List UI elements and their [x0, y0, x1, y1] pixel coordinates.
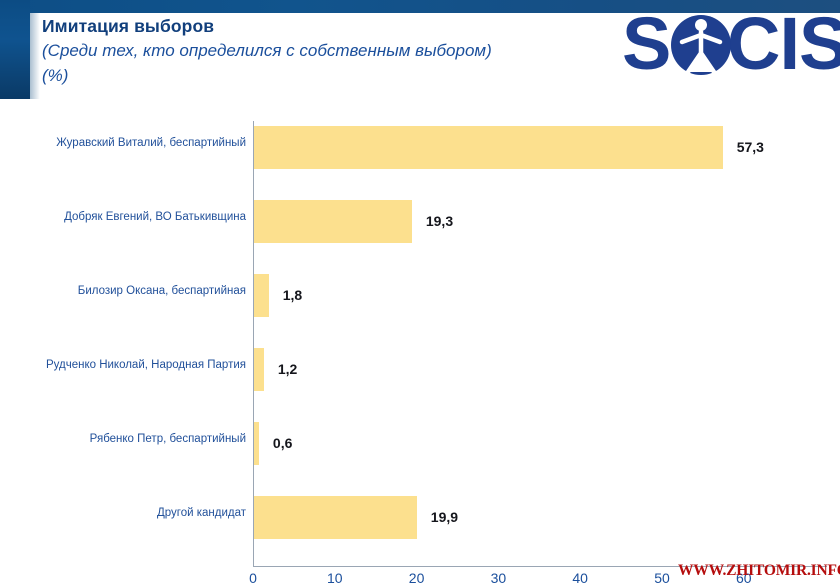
bar-value-label: 57,3	[737, 126, 764, 169]
category-label: Билозир Оксана, беспартийная	[6, 284, 246, 298]
category-label: Рябенко Петр, беспартийный	[6, 432, 246, 446]
category-label: Добряк Евгений, ВО Батькивщина	[6, 210, 246, 224]
bar[interactable]	[254, 274, 269, 317]
svg-text:S: S	[622, 9, 670, 81]
page-subtitle: (Среди тех, кто определился с собственны…	[42, 38, 622, 63]
x-tick-label: 10	[315, 570, 355, 586]
slide-root: Имитация выборов (Среди тех, кто определ…	[0, 0, 840, 588]
bar[interactable]	[254, 200, 412, 243]
chart-row: Добряк Евгений, ВО Батькивщина 19,3	[0, 195, 840, 269]
svg-text:CIS: CIS	[727, 9, 840, 81]
title-block: Имитация выборов (Среди тех, кто определ…	[42, 14, 622, 88]
chart-row: Билозир Оксана, беспартийная 1,8	[0, 269, 840, 343]
vitruvian-man-circle-icon	[671, 15, 731, 75]
x-tick-label: 0	[233, 570, 273, 586]
bar[interactable]	[254, 422, 259, 465]
page-unit-label: (%)	[42, 63, 622, 88]
header-strip-shadow	[30, 13, 40, 99]
x-tick-label: 40	[560, 570, 600, 586]
watermark-text: WWW.ZHITOMIR.INFO	[678, 562, 840, 580]
x-tick-label: 20	[397, 570, 437, 586]
chart-row: Рудченко Николай, Народная Партия 1,2	[0, 343, 840, 417]
chart-row: Другой кандидат 19,9	[0, 491, 840, 565]
category-label: Журавский Виталий, беспартийный	[6, 136, 246, 150]
chart-row: Рябенко Петр, беспартийный 0,6	[0, 417, 840, 491]
bar-value-label: 0,6	[273, 422, 292, 465]
bar-value-label: 1,2	[278, 348, 297, 391]
bar[interactable]	[254, 348, 264, 391]
header-left-strip	[0, 0, 30, 99]
bar-chart: Журавский Виталий, беспартийный 57,3 Доб…	[0, 110, 840, 588]
bar-value-label: 1,8	[283, 274, 302, 317]
category-label: Рудченко Николай, Народная Партия	[6, 358, 246, 372]
x-tick-label: 50	[642, 570, 682, 586]
x-tick-label: 30	[478, 570, 518, 586]
bar-value-label: 19,9	[431, 496, 458, 539]
bar[interactable]	[254, 126, 723, 169]
bar-value-label: 19,3	[426, 200, 453, 243]
bar[interactable]	[254, 496, 417, 539]
category-label: Другой кандидат	[6, 506, 246, 520]
chart-row: Журавский Виталий, беспартийный 57,3	[0, 121, 840, 195]
page-title: Имитация выборов	[42, 14, 622, 38]
socis-logo: S CIS	[622, 9, 840, 81]
